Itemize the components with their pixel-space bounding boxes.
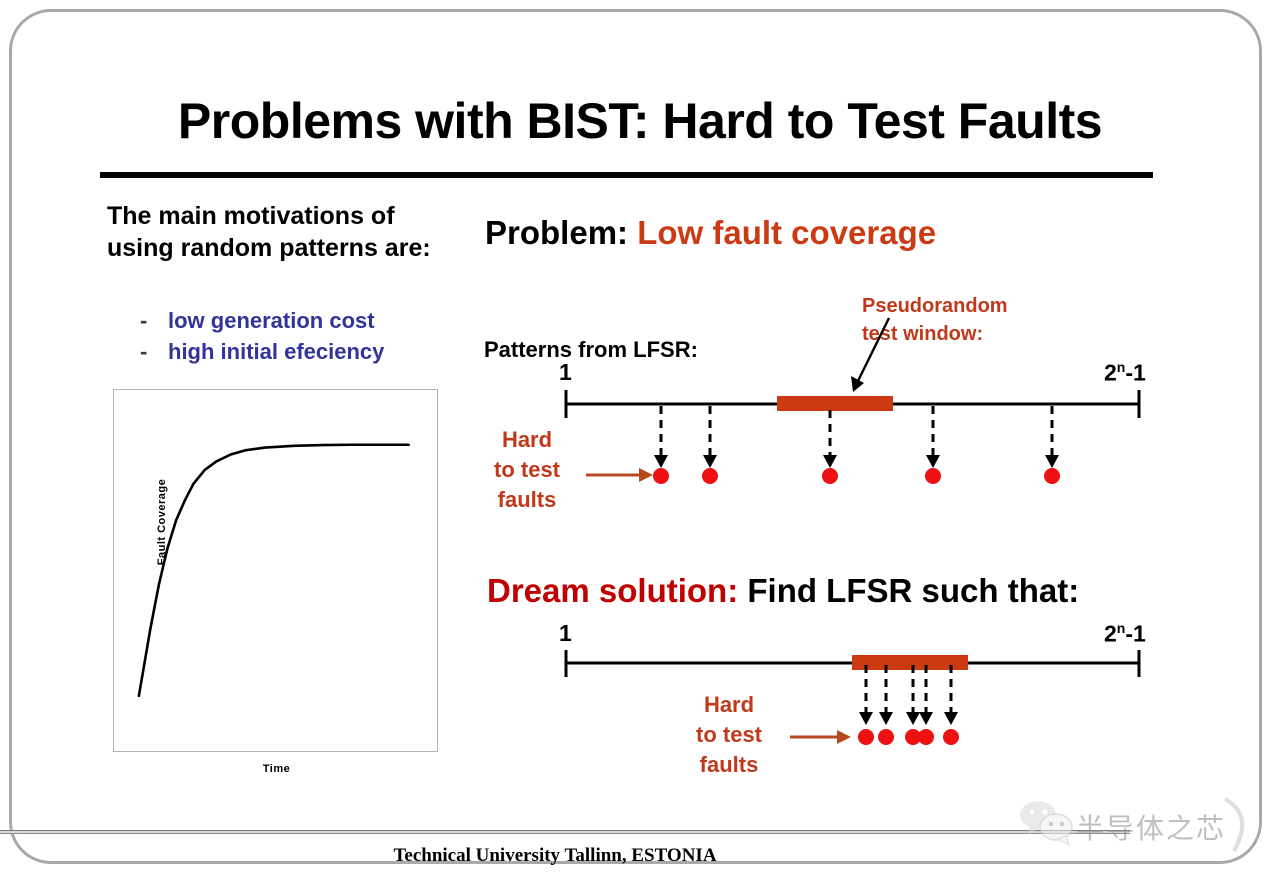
problem-value: Low fault coverage <box>637 214 936 251</box>
axis-end-suffix: -1 <box>1125 621 1145 647</box>
fault-dot <box>943 729 959 745</box>
fault-dot <box>858 729 874 745</box>
drop-arrow-head <box>823 455 837 468</box>
fault-coverage-chart: Fault Coverage Time <box>113 389 438 752</box>
motivation-text: The main motivations of using random pat… <box>107 200 447 264</box>
dream-solution-heading: Dream solution: Find LFSR such that: <box>487 572 1079 610</box>
fault-dot <box>925 468 941 484</box>
hard-line-1: Hard <box>683 690 775 720</box>
page-title: Problems with BIST: Hard to Test Faults <box>0 92 1280 150</box>
fault-dot <box>653 468 669 484</box>
top-fault-markers <box>653 406 1060 484</box>
drop-arrow-head <box>926 455 940 468</box>
fault-dot <box>918 729 934 745</box>
list-item: - low generation cost <box>140 305 460 336</box>
chart-curve-fault-coverage <box>139 445 409 696</box>
chart-y-axis-label: Fault Coverage <box>156 452 168 592</box>
top-axis-end-label: 2n-1 <box>1104 359 1146 387</box>
drop-arrow-head <box>703 455 717 468</box>
bottom-axis-start-label: 1 <box>559 620 572 647</box>
drop-arrow-head <box>944 712 958 725</box>
annotation-arrow-head <box>851 376 864 392</box>
fault-dot <box>702 468 718 484</box>
hard-line-3: faults <box>481 485 573 515</box>
annotation-line-1: Pseudorandom <box>862 292 1008 320</box>
drop-arrow-head <box>919 712 933 725</box>
wechat-watermark: 半导体之芯 <box>1020 793 1270 865</box>
fault-dot <box>905 729 921 745</box>
bottom-axis-end-label: 2n-1 <box>1104 620 1146 648</box>
bullet-dash-icon: - <box>140 336 168 367</box>
motivation-bullet-list: - low generation cost - high initial efe… <box>140 305 460 367</box>
annotation-line-2: test window: <box>862 320 1008 348</box>
chart-x-axis-label: Time <box>114 763 439 775</box>
hard-to-test-faults-label-top: Hard to test faults <box>481 425 573 515</box>
drop-arrow-head <box>906 712 920 725</box>
dream-solution-value: Find LFSR such that: <box>747 572 1079 609</box>
hard-line-2: to test <box>683 720 775 750</box>
bottom-timeline <box>565 650 1140 745</box>
dream-solution-label: Dream solution: <box>487 572 738 609</box>
bullet-dash-icon: - <box>140 305 168 336</box>
hard-to-test-faults-label-bottom: Hard to test faults <box>683 690 775 780</box>
drop-arrow-head <box>859 712 873 725</box>
axis-end-suffix: -1 <box>1125 360 1145 386</box>
hard-label-pointer-head <box>639 468 653 482</box>
hard-line-2: to test <box>481 455 573 485</box>
hard-line-1: Hard <box>481 425 573 455</box>
pseudorandom-window-annotation: Pseudorandom test window: <box>862 292 1008 348</box>
bullet-label-high-initial-efeciency: high initial efeciency <box>168 336 384 367</box>
watermark-label: 半导体之芯 <box>1076 807 1226 847</box>
list-item: - high initial efeciency <box>140 336 460 367</box>
drop-arrow-head <box>654 455 668 468</box>
top-axis-start-label: 1 <box>559 359 572 386</box>
fault-dot <box>878 729 894 745</box>
pseudorandom-window-bar-bottom <box>852 655 968 670</box>
axis-end-base: 2 <box>1104 621 1117 647</box>
drop-arrow-head <box>1045 455 1059 468</box>
hard-line-3: faults <box>683 750 775 780</box>
title-divider <box>100 172 1153 178</box>
axis-end-base: 2 <box>1104 360 1117 386</box>
hard-label-pointer-head <box>837 730 851 744</box>
drop-arrow-head <box>879 712 893 725</box>
bullet-label-low-generation-cost: low generation cost <box>168 305 375 336</box>
problem-heading: Problem: Low fault coverage <box>485 214 936 252</box>
bottom-fault-markers <box>858 665 959 745</box>
footer-divider <box>0 830 1130 834</box>
fault-dot <box>822 468 838 484</box>
footer-institution: Technical University Tallinn, ESTONIA <box>0 845 1110 867</box>
slide-canvas: Problems with BIST: Hard to Test Faults … <box>0 0 1280 886</box>
fault-dot <box>1044 468 1060 484</box>
patterns-from-lfsr-label: Patterns from LFSR: <box>484 337 698 363</box>
pseudorandom-window-bar-top <box>777 396 893 411</box>
problem-label: Problem: <box>485 214 628 251</box>
